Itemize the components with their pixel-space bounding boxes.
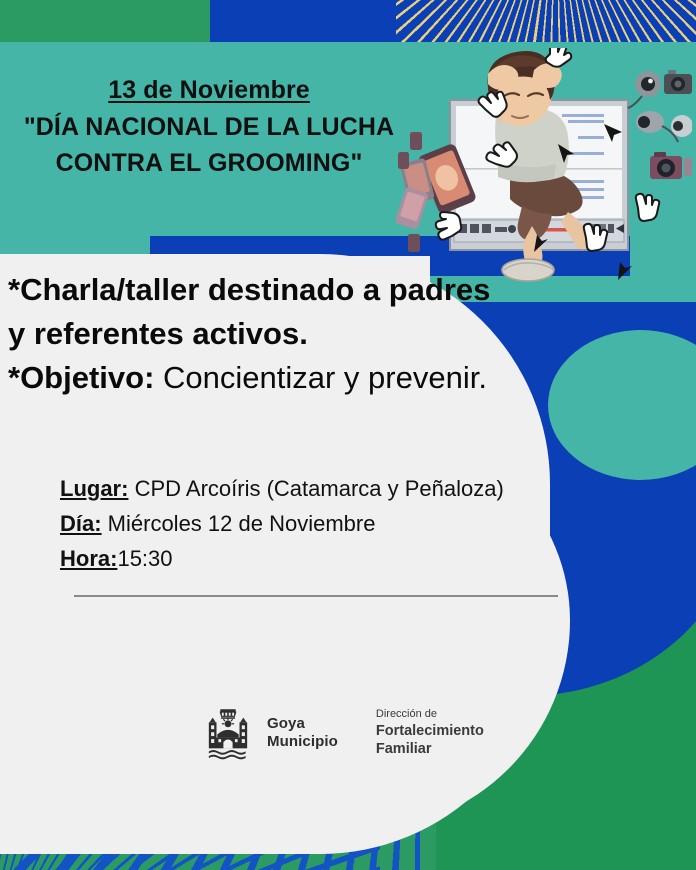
lead-copy: *Charla/taller destinado a padres y refe… — [8, 268, 508, 400]
webcam-icon — [671, 115, 692, 137]
smartphone-icon — [408, 234, 420, 252]
goya-crest-icon — [205, 705, 251, 761]
lead-objective-label: *Objetivo: — [8, 360, 154, 395]
lead-bullet-audience: *Charla/taller destinado a padres y refe… — [8, 268, 508, 356]
detail-row-lugar: Lugar: CPD Arcoíris (Catamarca y Peñaloz… — [60, 472, 600, 507]
direccion-wordmark: Dirección de Fortalecimiento Familiar — [376, 708, 484, 758]
detail-label-lugar: Lugar: — [60, 476, 128, 501]
direccion-eyebrow: Dirección de — [376, 708, 484, 722]
detail-row-hora: Hora:15:30 — [60, 542, 600, 577]
goya-municipio-wordmark: Goya Municipio — [267, 715, 338, 751]
detail-value-dia: Miércoles 12 de Noviembre — [102, 511, 376, 536]
poster-header: 13 de Noviembre "DÍA NACIONAL DE LA LUCH… — [0, 74, 418, 180]
poster-title-line1: "DÍA NACIONAL DE LA LUCHA — [0, 111, 418, 144]
camera-icon — [650, 152, 692, 179]
hand-cursor-icon — [546, 48, 572, 67]
lead-bullet-audience-text: *Charla/taller destinado a padres y refe… — [8, 272, 490, 351]
camera-icon — [664, 70, 692, 94]
smartphone-icon — [395, 187, 430, 231]
grooming-illustration — [392, 48, 692, 298]
goya-line1: Goya — [267, 715, 338, 733]
footer-logos: Goya Municipio Dirección de Fortalecimie… — [205, 698, 505, 768]
detail-label-dia: Día: — [60, 511, 102, 536]
event-details: Lugar: CPD Arcoíris (Catamarca y Peñaloz… — [60, 472, 600, 576]
hand-cursor-icon — [636, 194, 659, 221]
lead-objective-text: Concientizar y prevenir. — [154, 360, 487, 395]
lead-bullet-objective: *Objetivo: Concientizar y prevenir. — [8, 356, 508, 400]
event-date-heading: 13 de Noviembre — [0, 74, 418, 107]
poster-canvas: 13 de Noviembre "DÍA NACIONAL DE LA LUCH… — [0, 0, 696, 870]
detail-value-hora: 15:30 — [117, 546, 172, 571]
detail-value-lugar: CPD Arcoíris (Catamarca y Peñaloza) — [128, 476, 503, 501]
poster-title-line2: CONTRA EL GROOMING" — [0, 147, 418, 180]
direccion-line2: Familiar — [376, 740, 484, 758]
webcam-icon — [628, 71, 661, 108]
direccion-line1: Fortalecimiento — [376, 722, 484, 740]
arrow-cursor-icon — [618, 262, 632, 280]
horizontal-divider — [74, 595, 558, 597]
goya-line2: Municipio — [267, 733, 338, 751]
detail-label-hora: Hora: — [60, 546, 117, 571]
detail-row-dia: Día: Miércoles 12 de Noviembre — [60, 507, 600, 542]
